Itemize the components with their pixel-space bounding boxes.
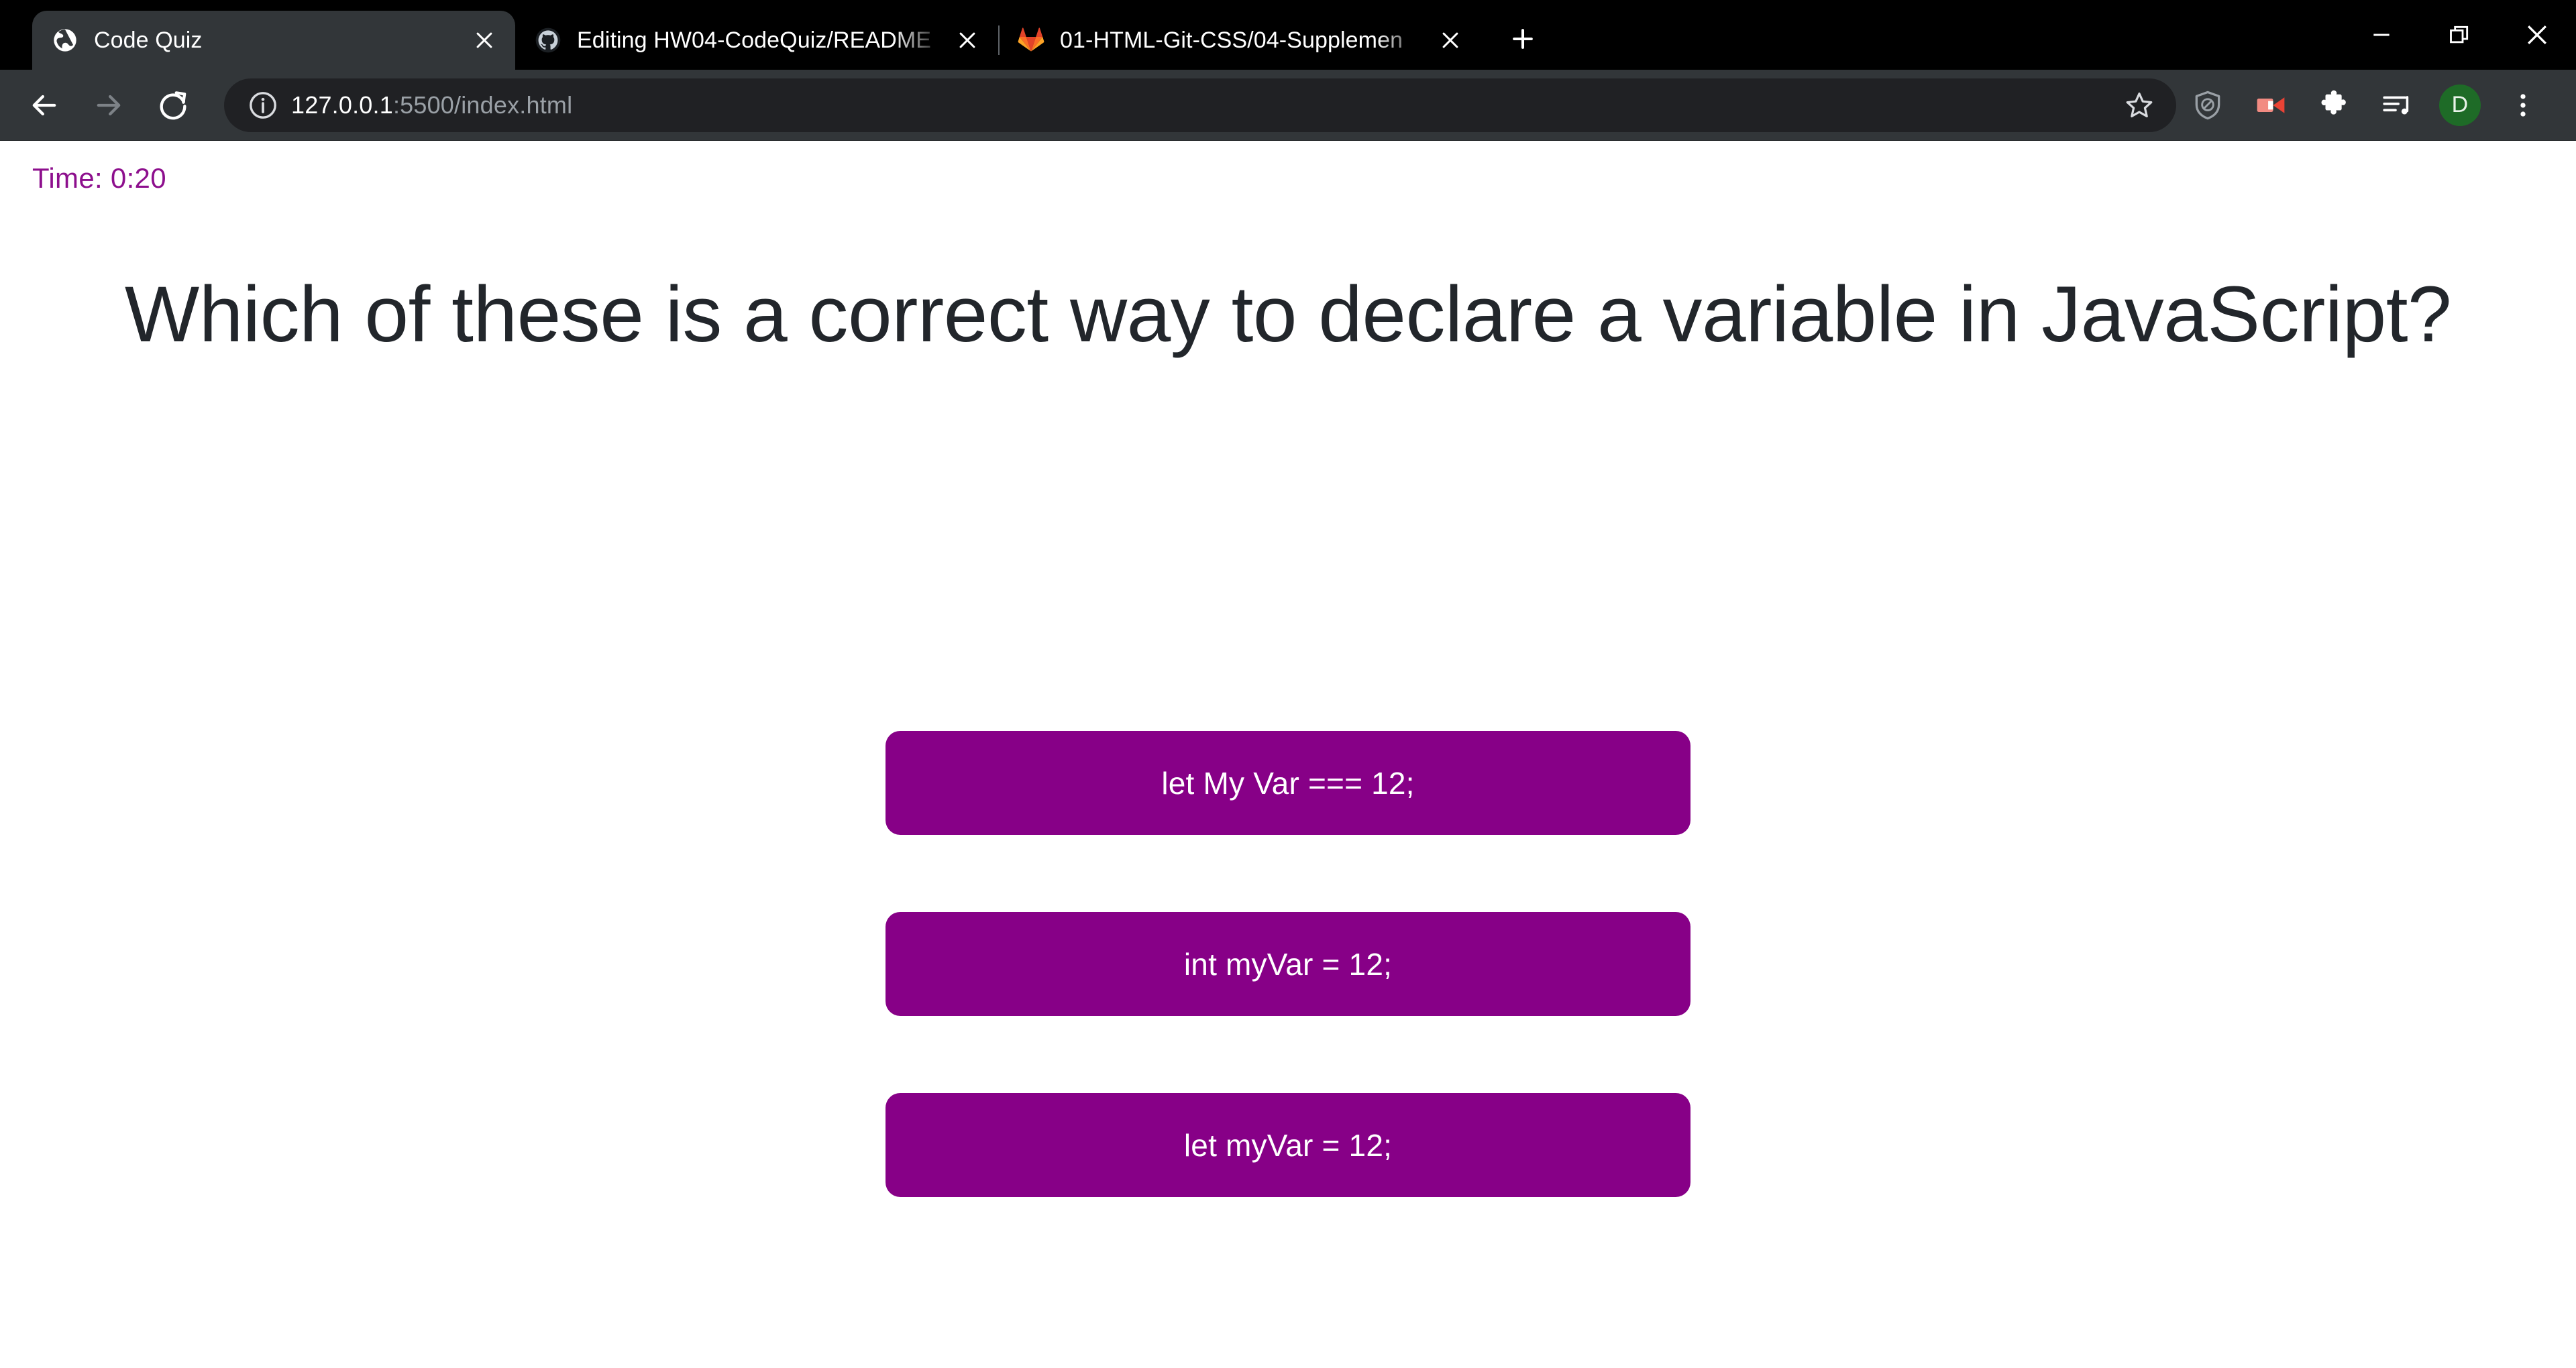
shield-icon[interactable] [2176,74,2239,137]
media-list-icon[interactable] [2365,74,2428,137]
address-bar[interactable]: 127.0.0.1:5500/index.html [224,78,2176,132]
github-icon [534,26,562,54]
page-viewport: Time: 0:20 Which of these is a correct w… [0,141,2576,1368]
site-info-icon[interactable] [244,87,282,124]
toolbar-actions: D [2176,74,2564,137]
puzzle-icon[interactable] [2302,74,2365,137]
tab-code-quiz[interactable]: Code Quiz [32,11,515,70]
tabs-area: Code Quiz Editing HW04-CodeQuiz/README [0,0,1547,70]
browser-toolbar: 127.0.0.1:5500/index.html [0,70,2576,141]
question-title: Which of these is a correct way to decla… [121,255,2455,375]
browser-window: Code Quiz Editing HW04-CodeQuiz/README [0,0,2576,1368]
url-text: 127.0.0.1:5500/index.html [291,91,2114,119]
three-dot-menu-icon[interactable] [2491,74,2555,137]
star-icon[interactable] [2114,80,2164,130]
window-controls [2343,0,2576,70]
globe-icon [51,26,79,54]
avatar-initial: D [2439,84,2481,126]
close-icon[interactable] [2498,0,2576,70]
tab-title: Editing HW04-CodeQuiz/README [577,27,945,54]
new-tab-button[interactable] [1499,15,1547,63]
tab-title: 01-HTML-Git-CSS/04-Supplemen [1060,27,1428,54]
url-path: :5500/index.html [393,91,572,119]
answer-choice-button[interactable]: int myVar = 12; [885,912,1690,1016]
reload-icon[interactable] [141,73,205,137]
gitlab-icon [1017,26,1045,54]
url-host: 127.0.0.1 [291,91,393,119]
minimize-icon[interactable] [2343,0,2420,70]
back-arrow-icon[interactable] [12,73,76,137]
forward-arrow-icon [76,73,141,137]
close-icon[interactable] [949,21,986,59]
tab-github-readme[interactable]: Editing HW04-CodeQuiz/README [515,11,998,70]
quiz-timer: Time: 0:20 [32,162,166,194]
screencast-icon[interactable] [2239,74,2302,137]
tab-strip: Code Quiz Editing HW04-CodeQuiz/README [0,0,2576,70]
answer-choices-list: let My Var === 12; int myVar = 12; let m… [0,731,2576,1197]
close-icon[interactable] [1432,21,1469,59]
answer-choice-button[interactable]: let My Var === 12; [885,731,1690,835]
restore-icon[interactable] [2420,0,2498,70]
close-icon[interactable] [466,21,503,59]
avatar[interactable]: D [2428,74,2491,137]
tab-title: Code Quiz [94,27,462,54]
tab-gitlab-supplemental[interactable]: 01-HTML-Git-CSS/04-Supplemen [998,11,1481,70]
answer-choice-button[interactable]: let myVar = 12; [885,1093,1690,1197]
